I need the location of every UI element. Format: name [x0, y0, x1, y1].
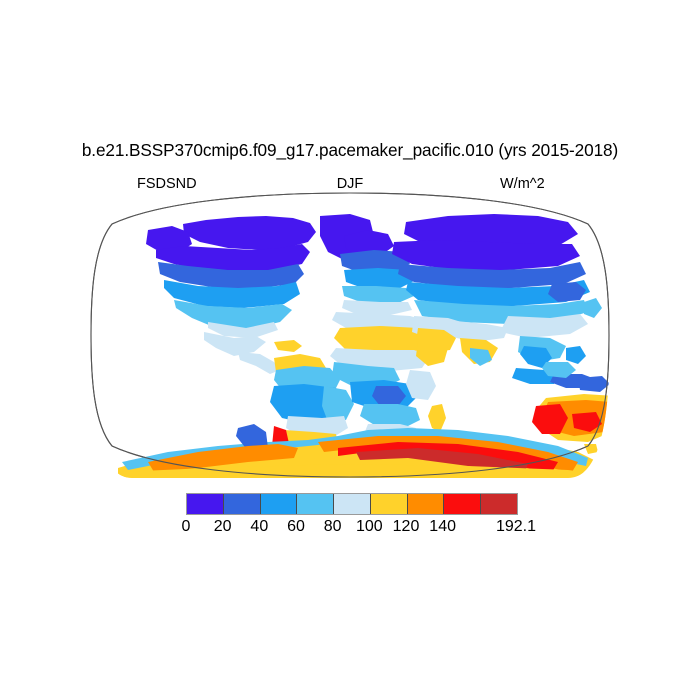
colorbar-segment-7 [444, 494, 481, 514]
map-svg [88, 190, 612, 480]
colorbar-segment-1 [224, 494, 261, 514]
colorbar-segment-6 [408, 494, 445, 514]
colorbar-segment-0 [187, 494, 224, 514]
colorbar-labels: 020406080100120140192.1 [0, 518, 700, 540]
colorbar-segment-4 [334, 494, 371, 514]
colorbar-tick-label: 192.1 [496, 518, 536, 536]
colorbar-tick-label: 20 [214, 518, 232, 536]
colorbar-segment-8 [481, 494, 517, 514]
colorbar-tick-label: 120 [393, 518, 420, 536]
world-map [88, 190, 612, 480]
region-tasmania [584, 444, 598, 454]
colorbar-segment-2 [261, 494, 298, 514]
colorbar-tick-label: 140 [429, 518, 456, 536]
colorbar[interactable] [186, 493, 518, 515]
colorbar-segment-5 [371, 494, 408, 514]
figure-canvas: b.e21.BSSP370cmip6.f09_g17.pacemaker_pac… [0, 0, 700, 700]
colorbar-tick-label: 100 [356, 518, 383, 536]
colorbar-tick-label: 80 [324, 518, 342, 536]
colorbar-segment-3 [297, 494, 334, 514]
colorbar-tick-label: 0 [182, 518, 191, 536]
colorbar-tick-label: 40 [250, 518, 268, 536]
colorbar-tick-label: 60 [287, 518, 305, 536]
page-title: b.e21.BSSP370cmip6.f09_g17.pacemaker_pac… [0, 140, 700, 161]
